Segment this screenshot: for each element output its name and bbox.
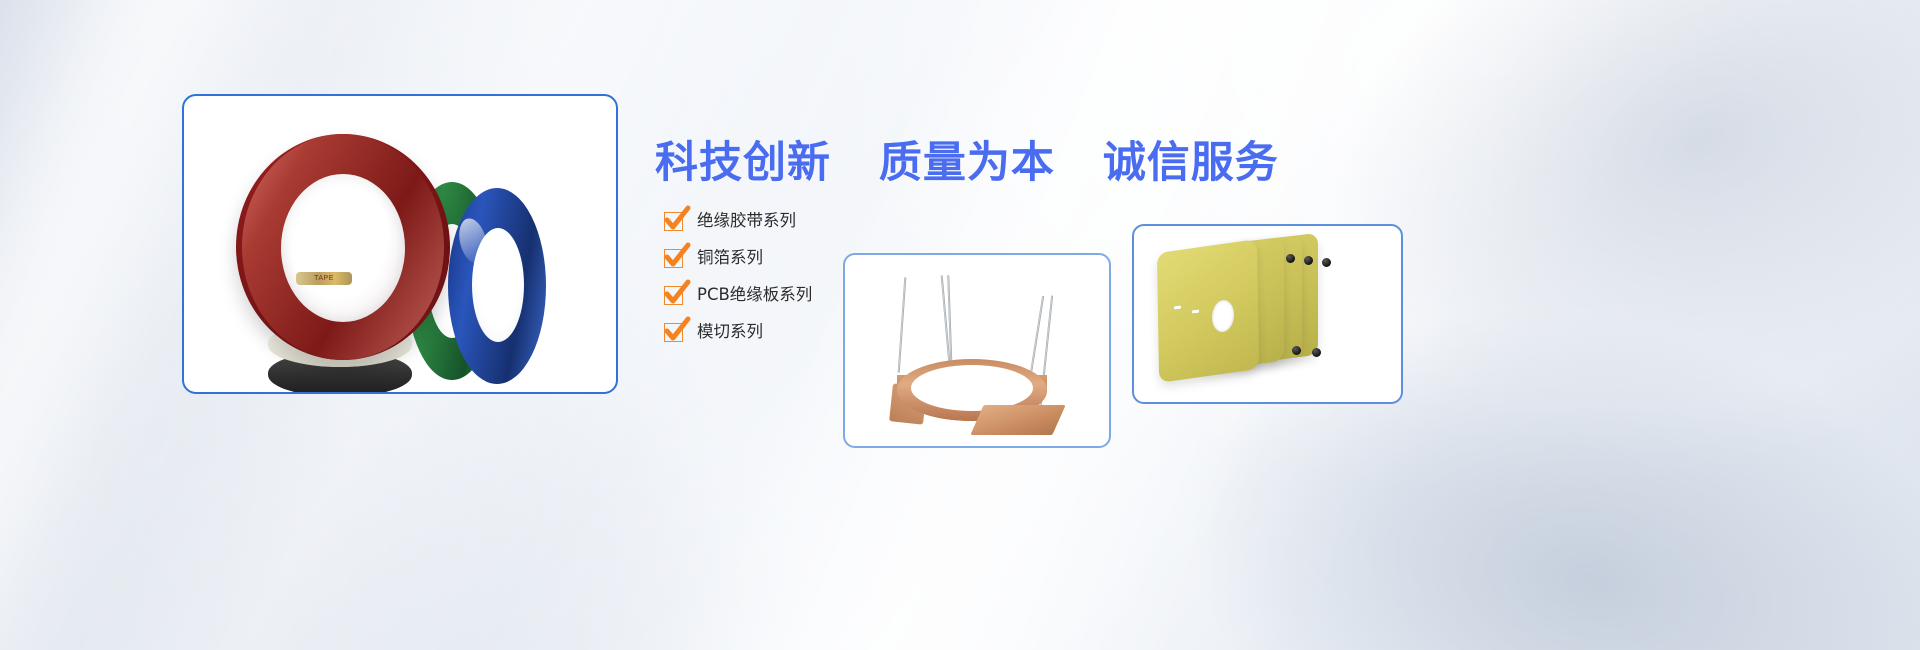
board-screw-3 [1322,258,1331,267]
checkbox-checked-icon [664,323,683,342]
board-screw-1 [1286,254,1295,263]
list-item[interactable]: 模切系列 [664,314,812,350]
list-item[interactable]: 铜箔系列 [664,240,812,276]
checkbox-checked-icon [664,212,683,231]
list-item-label: PCB绝缘板系列 [697,287,812,304]
insulation-tape-rolls-image: TAPE [184,96,616,392]
board-screw-4 [1292,346,1301,355]
headline-segment-2: 质量为本 [879,128,1055,190]
tape-label: TAPE [296,272,352,285]
list-item-label: 绝缘胶带系列 [697,213,796,230]
checkbox-checked-icon [664,249,683,268]
checkbox-checked-icon [664,286,683,305]
product-image-card-tapes[interactable]: TAPE [182,94,618,394]
board-screw-2 [1304,256,1313,265]
product-category-list: 绝缘胶带系列 铜箔系列 PCB绝缘板系列 模切系列 [664,203,812,351]
list-item-label: 模切系列 [697,324,763,341]
headline-segment-3: 诚信服务 [1103,128,1279,190]
product-image-card-copper-foil[interactable] [843,253,1111,448]
list-item-label: 铜箔系列 [697,250,763,267]
product-image-card-pcb-boards[interactable] [1132,224,1403,404]
page-title: 科技创新 质量为本 诚信服务 [655,128,1279,190]
insulation-board-1 [1157,239,1259,383]
copper-foil-tail [970,405,1065,435]
headline-segment-1: 科技创新 [655,128,831,190]
list-item[interactable]: 绝缘胶带系列 [664,203,812,239]
board-screw-5 [1312,348,1321,357]
promo-banner: 科技创新 质量为本 诚信服务 绝缘胶带系列 铜箔系列 PCB绝缘板系列 [0,0,1920,650]
pcb-insulation-boards-image [1134,226,1401,402]
lead-wire-1 [898,277,907,373]
copper-foil-coil-image [845,255,1109,446]
tape-roll-red-core [281,174,405,322]
tape-roll-blue-core [472,228,524,342]
list-item[interactable]: PCB绝缘板系列 [664,277,812,313]
